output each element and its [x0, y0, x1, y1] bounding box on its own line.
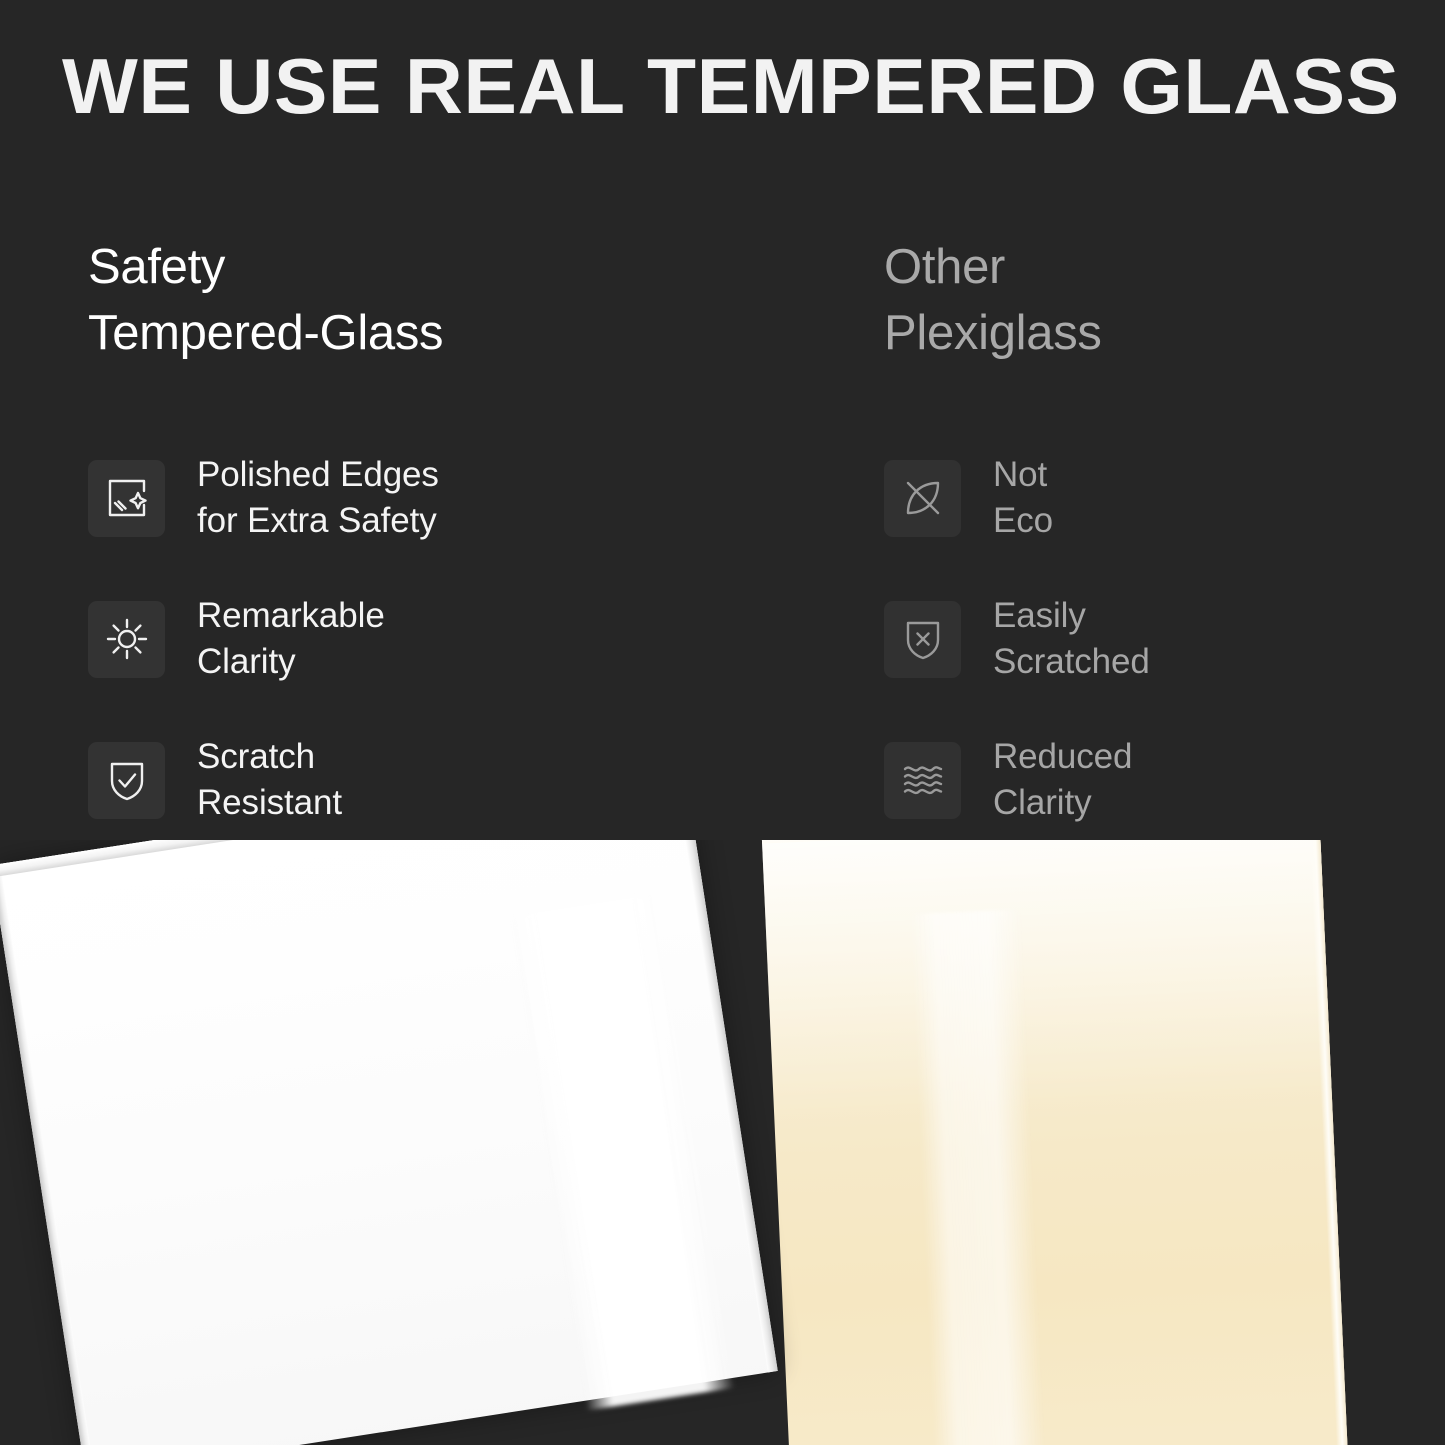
feature-label-polished-edges: Polished Edges for Extra Safety — [197, 452, 439, 544]
feature-list-right: Not Eco Easily Scratched — [884, 450, 1404, 828]
column-title-right: Other Plexiglass — [884, 234, 1404, 366]
shield-x-icon — [884, 601, 961, 678]
sun-brightness-icon — [88, 601, 165, 678]
column-title-left-line1: Safety — [88, 234, 788, 300]
feature-item-easily-scratched: Easily Scratched — [884, 591, 1404, 687]
feature-item-remarkable-clarity: Remarkable Clarity — [88, 591, 788, 687]
glass-left-polished-edge — [0, 864, 95, 1445]
column-title-left-line2: Tempered-Glass — [88, 300, 788, 366]
feature-label-reduced-clarity: Reduced Clarity — [993, 734, 1132, 826]
feature-list-left: Polished Edges for Extra Safety — [88, 450, 788, 828]
yellowed-plexiglass-panel — [762, 840, 1348, 1445]
feature-label-easily-scratched: Easily Scratched — [993, 593, 1150, 685]
product-comparison-image — [0, 840, 1445, 1445]
wavy-lines-icon — [884, 742, 961, 819]
feature-item-polished-edges: Polished Edges for Extra Safety — [88, 450, 788, 546]
infographic-page: WE USE REAL TEMPERED GLASS Safety Temper… — [0, 0, 1445, 1445]
column-title-right-line2: Plexiglass — [884, 300, 1404, 366]
feature-label-scratch-resistant: Scratch Resistant — [197, 734, 342, 826]
feature-item-reduced-clarity: Reduced Clarity — [884, 732, 1404, 828]
feature-item-not-eco: Not Eco — [884, 450, 1404, 546]
feature-item-scratch-resistant: Scratch Resistant — [88, 732, 788, 828]
plexiglass-sheen — [762, 840, 1332, 1120]
feature-label-not-eco: Not Eco — [993, 452, 1053, 544]
plexiglass-reflection — [910, 909, 1045, 1445]
plexiglass-right-edge — [1308, 840, 1347, 1445]
plexiglass-top-edge — [762, 840, 1320, 844]
glass-top-polished-edge — [0, 840, 685, 877]
glass-reflection — [510, 894, 735, 1411]
white-tempered-glass-panel — [0, 840, 778, 1445]
column-title-right-line1: Other — [884, 234, 1404, 300]
polished-glass-sparkle-icon — [88, 460, 165, 537]
column-title-left: Safety Tempered-Glass — [88, 234, 788, 366]
page-title: WE USE REAL TEMPERED GLASS — [62, 38, 1432, 134]
column-plexiglass: Other Plexiglass Not Eco — [884, 234, 1404, 366]
leaf-crossed-out-icon — [884, 460, 961, 537]
shield-check-icon — [88, 742, 165, 819]
column-tempered-glass: Safety Tempered-Glass Polished Edges for… — [88, 234, 788, 366]
feature-label-remarkable-clarity: Remarkable Clarity — [197, 593, 385, 685]
